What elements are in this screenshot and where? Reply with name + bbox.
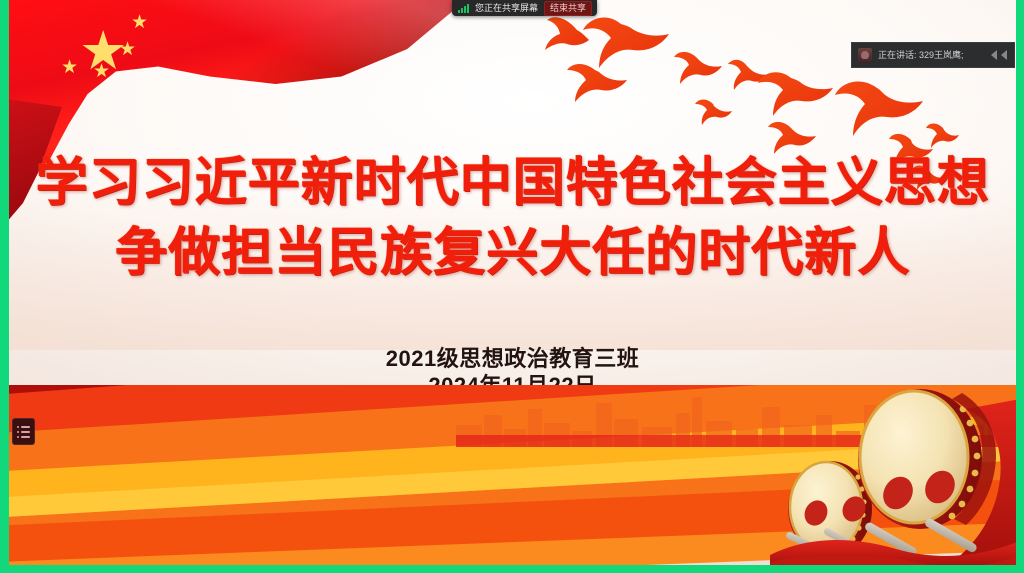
screen-share-toolbar[interactable]: 您正在共享屏幕 结束共享: [452, 0, 597, 16]
flag-star-small-4: ★: [61, 58, 78, 77]
menu-bar-icon: [21, 426, 30, 428]
menu-line-1: [17, 426, 30, 428]
slide-title-line-2: 争做担当民族复兴大任的时代新人: [9, 222, 1016, 284]
flag-stars: ★ ★ ★ ★ ★: [49, 10, 189, 120]
presentation-slide: ★ ★ ★ ★ ★: [9, 0, 1016, 565]
menu-bullet-icon: [17, 431, 19, 433]
double-chevron-left-icon[interactable]: [988, 49, 1010, 61]
screen-share-highlight-frame: ★ ★ ★ ★ ★: [0, 0, 1024, 573]
sidebar-toggle-button[interactable]: [12, 418, 35, 445]
slide-title-line-1: 学习习近平新时代中国特色社会主义思想: [9, 152, 1016, 214]
flag-star-small-1: ★: [131, 13, 148, 32]
speaker-video-panel[interactable]: 正在讲话: 329王岚鹰;: [851, 42, 1015, 68]
flag-star-small-2: ★: [119, 40, 136, 59]
menu-bullet-icon: [17, 436, 19, 438]
menu-line-3: [17, 436, 30, 438]
share-status-text: 您正在共享屏幕: [475, 3, 538, 13]
menu-bullet-icon: [17, 426, 19, 428]
flag-star-small-3: ★: [93, 62, 110, 81]
signal-bars-icon: [458, 4, 469, 13]
end-share-button[interactable]: 结束共享: [544, 1, 592, 16]
menu-line-2: [17, 431, 30, 433]
participant-avatar: [858, 48, 872, 63]
chinese-drums: [770, 359, 1016, 565]
menu-bar-icon: [21, 436, 30, 438]
speaking-status-text: 正在讲话: 329王岚鹰;: [878, 50, 982, 61]
menu-bar-icon: [21, 431, 30, 433]
slide-title-block: 学习习近平新时代中国特色社会主义思想 争做担当民族复兴大任的时代新人: [9, 152, 1016, 284]
